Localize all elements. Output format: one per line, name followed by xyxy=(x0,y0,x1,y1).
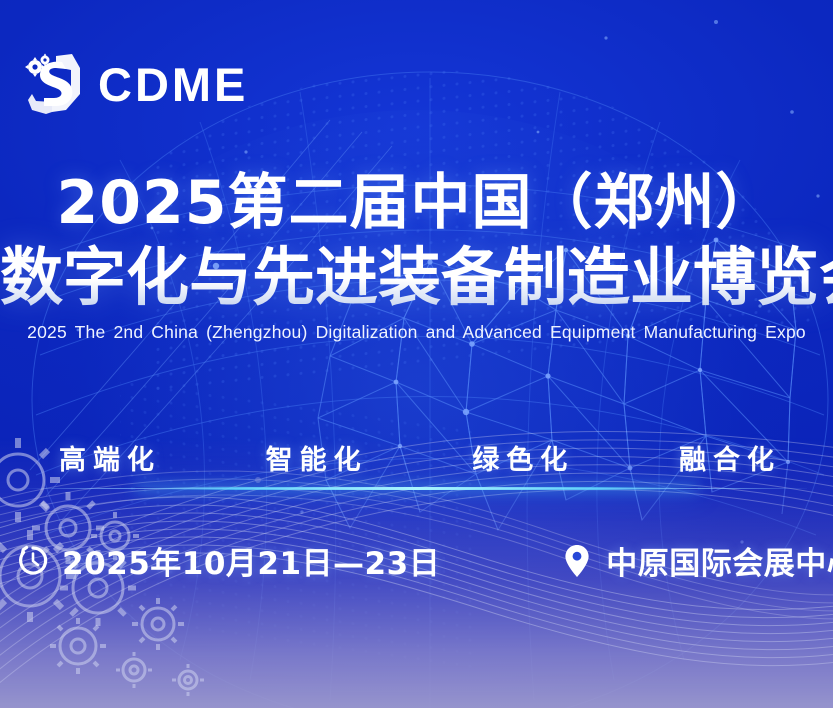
cdme-gear-s-logo-icon xyxy=(22,48,84,120)
title-english-subtitle: 2025 The 2nd China (Zhengzhou) Digitaliz… xyxy=(0,322,833,343)
keyword-item-4: 融合化 xyxy=(672,438,781,477)
logo-text: CDME xyxy=(98,61,248,108)
expo-banner: CDME 2025第二届中国（郑州） 数字化与先进装备制造业博览会 2025 T… xyxy=(0,0,833,708)
clock-icon xyxy=(16,541,50,581)
title-block: 2025第二届中国（郑州） 数字化与先进装备制造业博览会 2025 The 2n… xyxy=(0,166,833,343)
keyword-item-2: 智能化 xyxy=(259,438,368,477)
location-pin-icon xyxy=(560,541,594,581)
event-venue-text: 中原国际会展中心 xyxy=(606,538,833,583)
title-line-1: 2025第二届中国（郑州） xyxy=(0,166,833,240)
keyword-item-3: 绿色化 xyxy=(465,438,574,477)
banner-content: CDME 2025第二届中国（郑州） 数字化与先进装备制造业博览会 2025 T… xyxy=(0,0,833,708)
info-row: 2025年10月21日—23日 中原国际会展中心 xyxy=(8,538,803,583)
event-date-item: 2025年10月21日—23日 xyxy=(16,538,440,583)
keyword-row: 高端化 智能化 绿色化 融合化 xyxy=(52,438,781,477)
event-date-text: 2025年10月21日—23日 xyxy=(62,538,440,583)
glow-divider xyxy=(26,485,807,493)
keyword-item-1: 高端化 xyxy=(52,438,161,477)
divider-glow-core xyxy=(135,487,697,490)
title-line-2: 数字化与先进装备制造业博览会 xyxy=(0,240,833,316)
logo[interactable]: CDME xyxy=(22,48,248,120)
event-venue-item: 中原国际会展中心 xyxy=(560,538,833,583)
